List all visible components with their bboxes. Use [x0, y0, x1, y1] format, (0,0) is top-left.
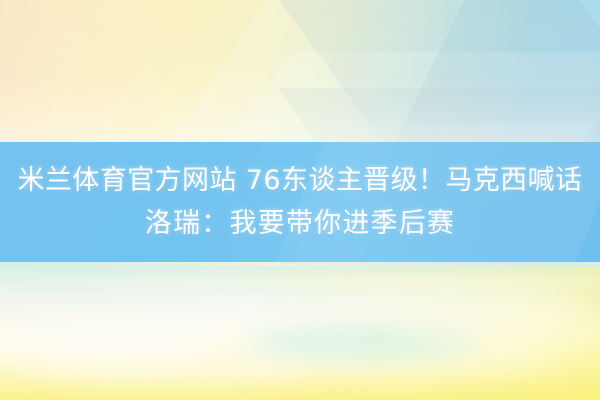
headline-line-2: 洛瑞：我要带你进季后赛 [145, 202, 455, 245]
bottom-background-warm-wash [0, 262, 600, 400]
headline-banner: 米兰体育官方网站 76东谈主晋级！马克西喊话 洛瑞：我要带你进季后赛 [0, 142, 600, 262]
headline-line-1: 米兰体育官方网站 76东谈主晋级！马克西喊话 [18, 159, 583, 202]
bottom-edge-separator [0, 262, 600, 267]
thumbnail-banner: 米兰体育官方网站 76东谈主晋级！马克西喊话 洛瑞：我要带你进季后赛 [0, 0, 600, 400]
top-background-veil [0, 0, 600, 142]
